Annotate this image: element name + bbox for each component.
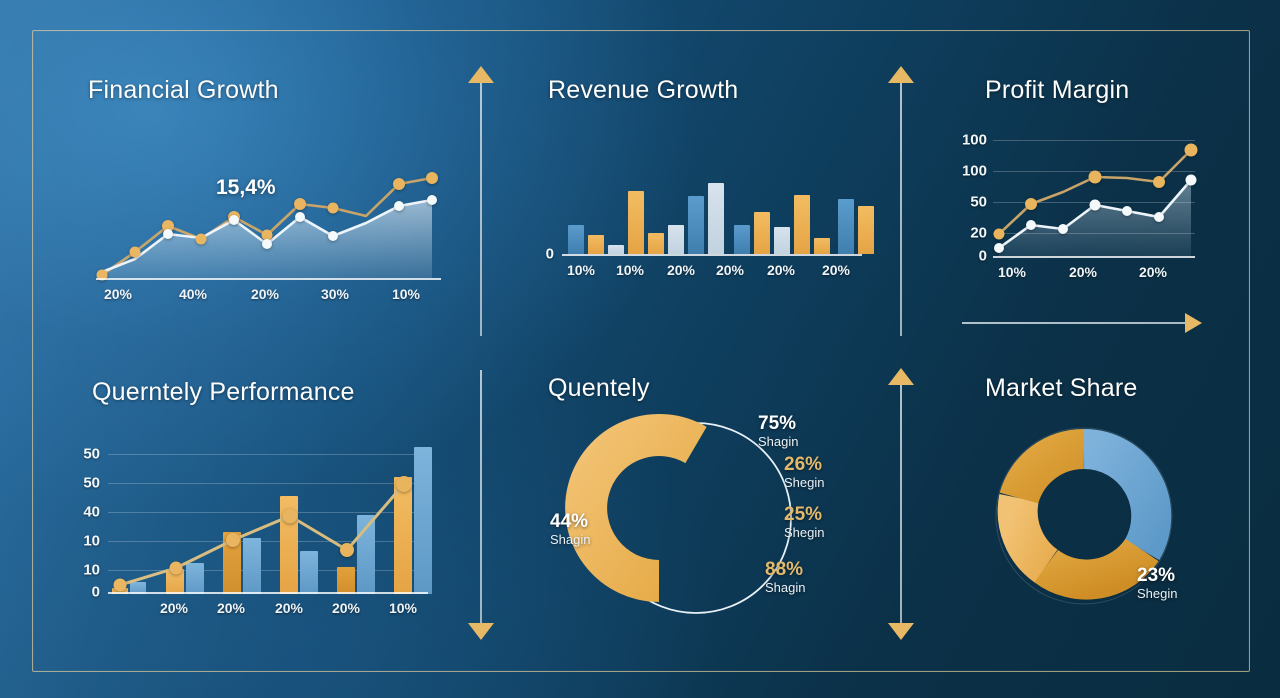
- data-point: [1025, 198, 1037, 210]
- bar: [568, 225, 584, 254]
- bar: [858, 206, 874, 254]
- x-tick-label: 20%: [667, 262, 695, 278]
- data-point: [226, 533, 240, 547]
- data-point: [1154, 212, 1164, 222]
- x-tick-label: 20%: [767, 262, 795, 278]
- divider-bottom-right: [888, 370, 914, 638]
- x-tick-label: 20%: [160, 600, 188, 616]
- data-point: [328, 231, 338, 241]
- donut-segment-light-orange: [1018, 498, 1046, 566]
- data-point: [994, 229, 1005, 240]
- donut-segment-dark-orange: [1046, 550, 1142, 580]
- bar: [754, 212, 770, 254]
- quarterly-performance-trend: [108, 434, 428, 594]
- donut-label-pct: 23%: [1137, 566, 1177, 587]
- donut-label-pct: 25%: [784, 505, 824, 526]
- financial-growth-plot: [96, 134, 441, 284]
- x-tick-label: 30%: [321, 286, 349, 302]
- x-tick-label: 10%: [616, 262, 644, 278]
- arrow-up-icon: [888, 368, 914, 385]
- y-tick-label: 100: [957, 163, 987, 180]
- arrow-up-icon: [888, 66, 914, 83]
- data-point: [295, 212, 305, 222]
- divider-top-right: [888, 68, 914, 336]
- revenue-growth-plot: [566, 176, 856, 254]
- dashboard-canvas: Financial Growth 15,4%: [0, 0, 1280, 698]
- y-tick-label: 100: [957, 132, 987, 149]
- data-point: [1089, 171, 1102, 184]
- bar: [838, 199, 854, 254]
- bar: [734, 225, 750, 254]
- x-tick-label: 20%: [275, 600, 303, 616]
- data-point: [114, 579, 127, 592]
- donut-label-name: Shegin: [784, 476, 824, 491]
- data-point: [994, 243, 1004, 253]
- data-point: [1026, 220, 1036, 230]
- arrow-down-icon: [468, 623, 494, 640]
- x-tick-label: 20%: [217, 600, 245, 616]
- bar: [774, 227, 790, 254]
- panel-profit-margin: Profit Margin 100 100 50 20 0: [985, 76, 1235, 306]
- donut-segment-blue: [1084, 449, 1151, 550]
- x-axis-line: [108, 592, 428, 594]
- data-point: [262, 239, 272, 249]
- data-point: [396, 476, 412, 492]
- divider-line: [480, 370, 482, 638]
- bar: [688, 196, 704, 254]
- panel-quarterly-performance: Querntely Performance 50 50 40 10 10 0: [92, 378, 452, 628]
- bar: [814, 238, 830, 254]
- profit-margin-title: Profit Margin: [985, 76, 1235, 105]
- x-tick-label: 10%: [998, 264, 1026, 280]
- panel-market-share: Market Share: [985, 374, 1245, 624]
- bar: [628, 191, 644, 254]
- panel-quentely: Quentely 75% Shagin 26% Shegin 25% Shegi…: [548, 374, 868, 624]
- trend-line: [120, 484, 404, 585]
- donut-label-pct: 75%: [758, 414, 798, 435]
- x-tick-label: 20%: [104, 286, 132, 302]
- x-tick-label: 20%: [251, 286, 279, 302]
- x-axis-line: [562, 254, 862, 256]
- data-point: [229, 215, 239, 225]
- y-tick-label: 50: [74, 475, 100, 492]
- bar: [794, 195, 810, 254]
- data-point: [1090, 200, 1101, 211]
- arrow-right-icon: [1185, 313, 1202, 333]
- y-tick-label: 50: [74, 446, 100, 463]
- donut-label-name: Shegin: [1137, 587, 1177, 602]
- data-point: [427, 195, 437, 205]
- donut-label-pct: 44%: [550, 512, 590, 533]
- data-point: [294, 198, 306, 210]
- panel-revenue-growth: Revenue Growth 0 10% 10% 20% 20% 20% 20%: [548, 76, 858, 306]
- y-tick-label: 50: [957, 194, 987, 211]
- donut-segment-mid-orange: [1019, 449, 1084, 498]
- data-point: [130, 247, 141, 258]
- y-tick-label: 10: [74, 562, 100, 579]
- data-point: [1153, 176, 1165, 188]
- x-tick-label: 20%: [1139, 264, 1167, 280]
- data-point: [1186, 175, 1197, 186]
- donut-label-pct: 26%: [784, 455, 824, 476]
- divider-line: [480, 68, 482, 336]
- donut-label: 44% Shagin: [550, 512, 590, 547]
- donut-label: 26% Shegin: [784, 455, 824, 490]
- x-tick-label: 10%: [392, 286, 420, 302]
- bar: [708, 183, 724, 254]
- market-share-title: Market Share: [985, 374, 1245, 403]
- donut-label-name: Shegin: [784, 526, 824, 541]
- arrow-horizontal-right: [962, 312, 1200, 334]
- y-tick-label: 0: [74, 584, 100, 601]
- y-tick-label: 20: [957, 225, 987, 242]
- y-tick-label: 10: [74, 533, 100, 550]
- x-tick-label: 40%: [179, 286, 207, 302]
- arrow-up-icon: [468, 66, 494, 83]
- bar: [648, 233, 664, 254]
- quarterly-performance-title: Querntely Performance: [92, 378, 452, 407]
- donut-label: 75% Shagin: [758, 414, 798, 449]
- data-point: [1058, 224, 1068, 234]
- data-point: [393, 178, 405, 190]
- panel-financial-growth: Financial Growth 15,4%: [88, 76, 448, 306]
- donut-label-name: Shagin: [550, 533, 590, 548]
- data-point: [163, 229, 173, 239]
- bar: [588, 235, 604, 254]
- donut-label: 23% Shegin: [1137, 566, 1177, 601]
- x-tick-label: 20%: [822, 262, 850, 278]
- bar: [668, 225, 684, 254]
- financial-growth-title: Financial Growth: [88, 76, 448, 105]
- bar: [608, 245, 624, 254]
- donut-label-name: Shagin: [758, 435, 798, 450]
- arrow-line: [962, 322, 1186, 324]
- donut-label: 25% Shegin: [784, 505, 824, 540]
- donut-label: 88% Shagin: [765, 560, 805, 595]
- data-point: [426, 172, 438, 184]
- donut-label-pct: 88%: [765, 560, 805, 581]
- x-tick-label: 20%: [1069, 264, 1097, 280]
- data-point: [340, 543, 354, 557]
- x-axis-line: [993, 256, 1195, 258]
- divider-line: [900, 370, 902, 638]
- revenue-growth-title: Revenue Growth: [548, 76, 858, 105]
- divider-line: [900, 68, 902, 336]
- arrow-down-icon: [888, 623, 914, 640]
- data-point: [1122, 206, 1132, 216]
- x-tick-label: 20%: [332, 600, 360, 616]
- x-tick-label: 10%: [567, 262, 595, 278]
- data-point: [394, 201, 404, 211]
- divider-bottom-left: [468, 370, 494, 638]
- data-point: [170, 562, 183, 575]
- quentely-title: Quentely: [548, 374, 868, 403]
- data-point: [328, 203, 339, 214]
- x-tick-label: 10%: [389, 600, 417, 616]
- data-point: [283, 509, 298, 524]
- y-tick-label: 0: [957, 248, 987, 265]
- donut-label-name: Shagin: [765, 581, 805, 596]
- data-point: [1185, 144, 1198, 157]
- x-axis-line: [96, 278, 441, 280]
- x-tick-label: 20%: [716, 262, 744, 278]
- data-point: [196, 234, 207, 245]
- profit-margin-plot: [993, 133, 1195, 258]
- y-tick-label: 40: [74, 504, 100, 521]
- y-tick-label: 0: [540, 246, 554, 263]
- donut-arc-44: [586, 435, 696, 581]
- divider-top-left: [468, 68, 494, 336]
